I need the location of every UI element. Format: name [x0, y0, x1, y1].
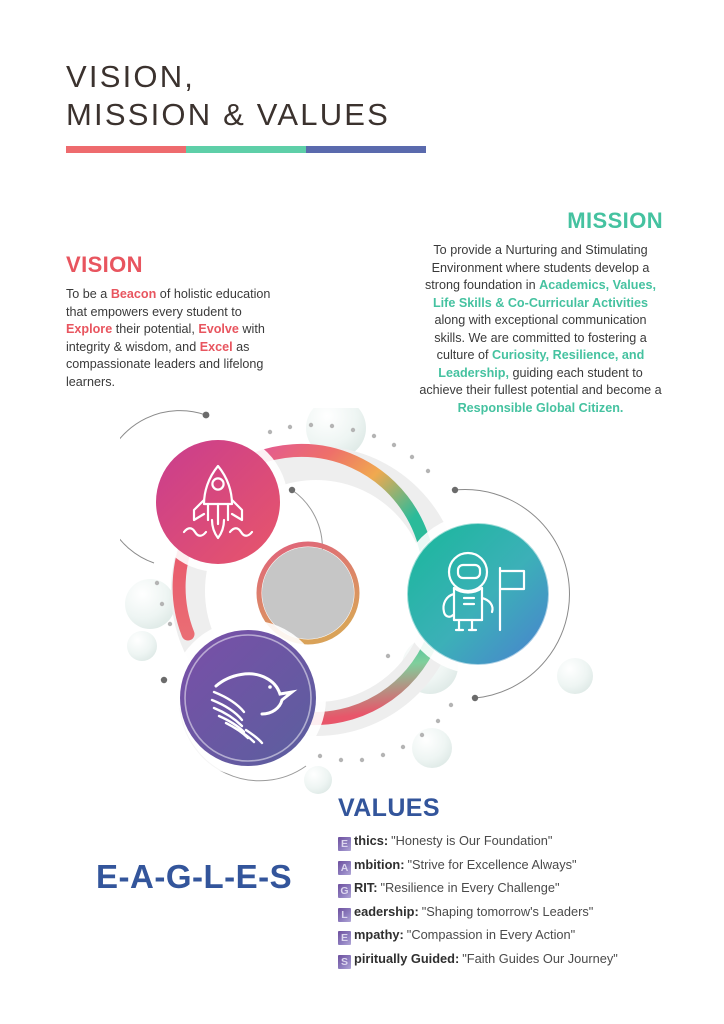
value-item: GRIT:"Resilience in Every Challenge" — [338, 880, 678, 896]
value-quote: "Compassion in Every Action" — [407, 927, 575, 942]
mission-heading: MISSION — [418, 208, 663, 234]
mission-section: MISSION To provide a Nurturing and Stimu… — [418, 208, 663, 417]
values-heading: VALUES — [338, 794, 678, 823]
value-letter-badge: G — [338, 884, 351, 898]
value-quote: "Resilience in Every Challenge" — [380, 880, 559, 895]
underline-segment-3 — [306, 146, 426, 153]
underline-segment-1 — [66, 146, 186, 153]
highlighted-phrase: Explore — [66, 322, 112, 336]
highlighted-phrase: Beacon — [111, 287, 157, 301]
page-title: VISION, MISSION & VALUES — [66, 58, 486, 134]
title-line-1: VISION, — [66, 58, 486, 96]
value-name: mbition: — [354, 857, 404, 872]
value-item: Spiritually Guided:"Faith Guides Our Jou… — [338, 951, 678, 967]
circle-astronaut — [398, 514, 558, 674]
value-letter-badge: A — [338, 861, 351, 875]
value-letter-badge: E — [338, 837, 351, 851]
title-underline — [66, 146, 426, 153]
value-item: Ambition:"Strive for Excellence Always" — [338, 857, 678, 873]
value-name: piritually Guided: — [354, 951, 459, 966]
value-item: Empathy:"Compassion in Every Action" — [338, 927, 678, 943]
circles-graphic — [120, 408, 600, 798]
underline-segment-2 — [186, 146, 306, 153]
value-item: Ethics:"Honesty is Our Foundation" — [338, 833, 678, 849]
body-text-run: To be a — [66, 287, 111, 301]
body-text-run: their potential, — [112, 322, 198, 336]
value-name: eadership: — [354, 904, 419, 919]
vision-body: To be a Beacon of holistic education tha… — [66, 286, 276, 391]
circle-eagle — [170, 620, 326, 776]
values-list: Ethics:"Honesty is Our Foundation"Ambiti… — [338, 833, 678, 967]
highlighted-phrase: Excel — [200, 340, 233, 354]
value-quote: "Strive for Excellence Always" — [407, 857, 576, 872]
highlighted-phrase: Evolve — [198, 322, 239, 336]
circle-rocket — [148, 432, 288, 572]
value-name: RIT: — [354, 880, 377, 895]
value-letter-badge: S — [338, 955, 351, 969]
eagles-acronym: E-A-G-L-E-S — [96, 858, 292, 896]
value-quote: "Shaping tomorrow's Leaders" — [422, 904, 594, 919]
mission-body: To provide a Nurturing and Stimulating E… — [418, 242, 663, 417]
value-quote: "Honesty is Our Foundation" — [391, 833, 552, 848]
value-name: mpathy: — [354, 927, 404, 942]
value-name: thics: — [354, 833, 388, 848]
value-letter-badge: E — [338, 931, 351, 945]
vision-heading: VISION — [66, 252, 276, 278]
values-section: VALUES Ethics:"Honesty is Our Foundation… — [338, 794, 678, 974]
value-item: Leadership:"Shaping tomorrow's Leaders" — [338, 904, 678, 920]
value-quote: "Faith Guides Our Journey" — [462, 951, 618, 966]
value-letter-badge: L — [338, 908, 351, 922]
title-line-2: MISSION & VALUES — [66, 96, 486, 134]
vision-section: VISION To be a Beacon of holistic educat… — [66, 252, 276, 391]
